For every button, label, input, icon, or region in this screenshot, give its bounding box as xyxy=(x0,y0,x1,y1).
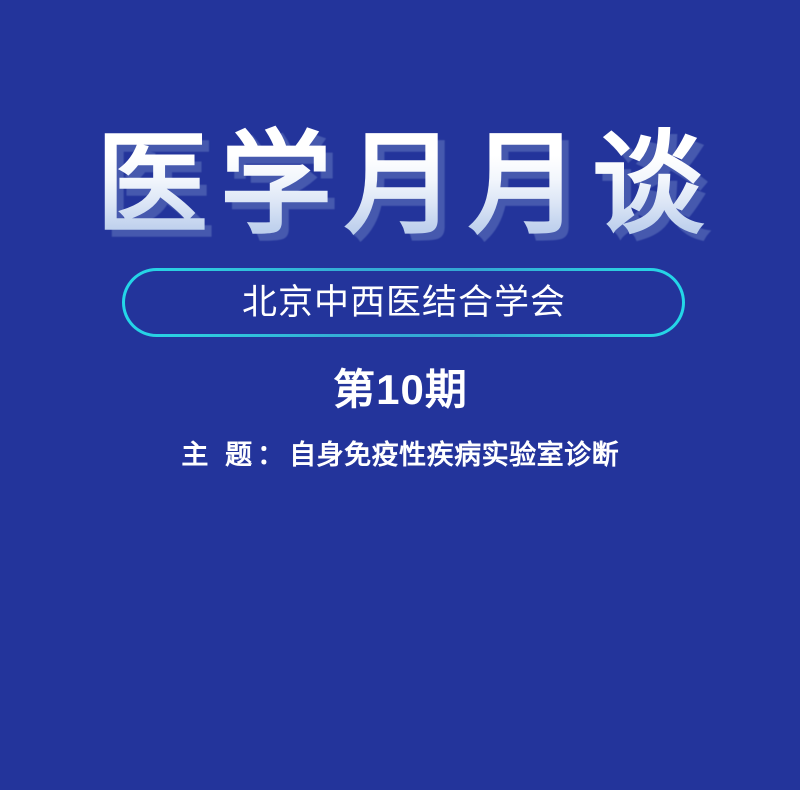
poster-title: 医学月月谈 医学月月谈 xyxy=(0,122,800,252)
organization-pill-inner: 北京中西医结合学会 xyxy=(125,271,682,334)
organization-pill: 北京中西医结合学会 xyxy=(122,268,685,337)
poster-canvas: 医学月月谈 医学月月谈 北京中西医结合学会 第10期 主 题：自身免疫性疾病实验… xyxy=(0,0,800,790)
episode-number: 第10期 xyxy=(0,369,800,411)
organization-name: 北京中西医结合学会 xyxy=(241,285,566,320)
theme-line: 主 题：自身免疫性疾病实验室诊断 xyxy=(0,440,800,470)
theme-value: 自身免疫性疾病实验室诊断 xyxy=(289,440,619,470)
poster-title-text: 医学月月谈 xyxy=(0,122,800,252)
theme-label: 主 题： xyxy=(181,440,289,470)
